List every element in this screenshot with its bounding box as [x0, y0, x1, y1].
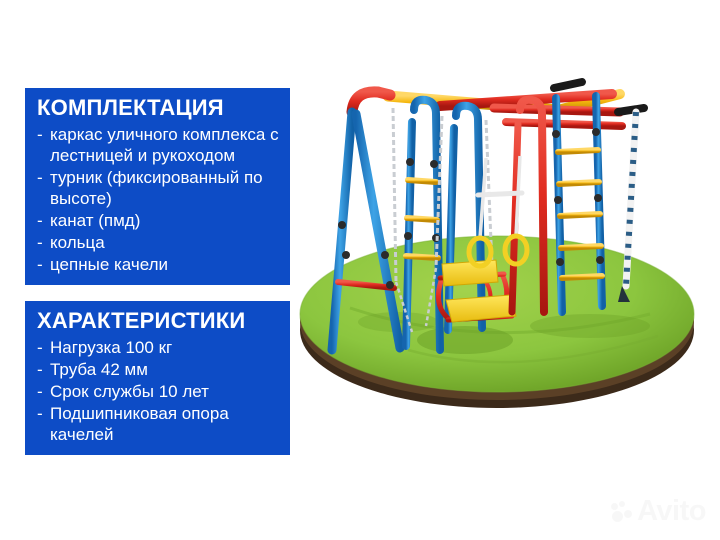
grip-icon — [618, 108, 644, 112]
bullet-dash: - — [37, 254, 43, 275]
list-item-label: Труба 42 мм — [50, 360, 148, 379]
list-item: - канат (пмд) — [37, 210, 280, 231]
avito-watermark: Avito — [611, 497, 706, 526]
bullet-dash: - — [37, 337, 43, 358]
features-panel-title: ХАРАКТЕРИСТИКИ — [37, 307, 280, 335]
list-item: - Нагрузка 100 кг — [37, 337, 280, 358]
bullet-dash: - — [37, 381, 43, 402]
list-item-label: кольца — [50, 233, 105, 252]
bullet-dash: - — [37, 167, 43, 188]
product-illustration — [290, 50, 720, 450]
list-item-label: цепные качели — [50, 255, 168, 274]
bullet-dash: - — [37, 403, 43, 424]
list-item-label: каркас уличного комплекса с лестницей и … — [50, 125, 279, 165]
bullet-dash: - — [37, 232, 43, 253]
list-item-label: Нагрузка 100 кг — [50, 338, 172, 357]
spec-panel-title: КОМПЛЕКТАЦИЯ — [37, 94, 280, 122]
list-item: - турник (фиксированный по высоте) — [37, 167, 280, 209]
avito-dots-icon — [611, 501, 633, 523]
features-panel: ХАРАКТЕРИСТИКИ - Нагрузка 100 кг - Труба… — [25, 301, 290, 455]
grip-icon — [554, 82, 582, 88]
list-item: - каркас уличного комплекса с лестницей … — [37, 124, 280, 166]
list-item: - кольца — [37, 232, 280, 253]
spec-panel: КОМПЛЕКТАЦИЯ - каркас уличного комплекса… — [25, 88, 290, 285]
watermark-label: Avito — [637, 497, 706, 526]
list-item-label: Срок службы 10 лет — [50, 382, 209, 401]
list-item-label: Подшипниковая опора качелей — [50, 404, 229, 444]
list-item: - Подшипниковая опора качелей — [37, 403, 280, 445]
product-card-image: КОМПЛЕКТАЦИЯ - каркас уличного комплекса… — [0, 0, 720, 540]
list-item-label: турник (фиксированный по высоте) — [50, 168, 263, 208]
grass-base — [300, 236, 694, 408]
spec-panel-list: - каркас уличного комплекса с лестницей … — [37, 124, 280, 275]
list-item: - Срок службы 10 лет — [37, 381, 280, 402]
list-item: - Труба 42 мм — [37, 359, 280, 380]
list-item: - цепные качели — [37, 254, 280, 275]
bullet-dash: - — [37, 124, 43, 145]
features-panel-list: - Нагрузка 100 кг - Труба 42 мм - Срок с… — [37, 337, 280, 445]
list-item-label: канат (пмд) — [50, 211, 140, 230]
bullet-dash: - — [37, 359, 43, 380]
bullet-dash: - — [37, 210, 43, 231]
